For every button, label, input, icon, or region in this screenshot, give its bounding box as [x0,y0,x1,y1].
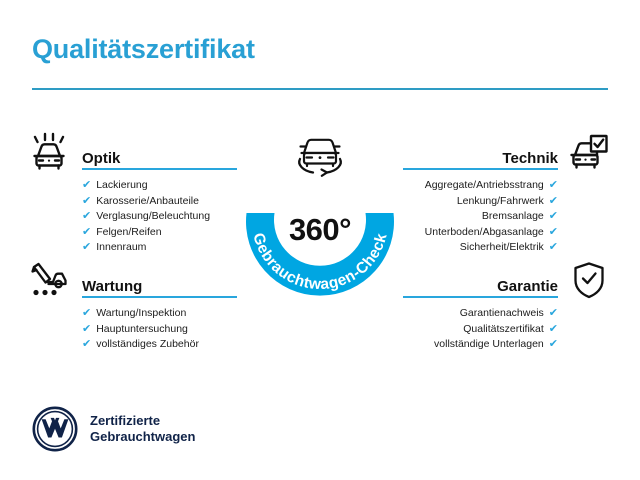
section-optik-header: Optik [82,140,237,170]
section-optik-underline [82,168,237,170]
check-icon: ✔ [549,227,558,238]
list-item-label: Lenkung/Fahrwerk [457,194,544,210]
check-icon: ✔ [549,196,558,207]
car-rotation-360-icon [288,126,352,180]
list-item-label: Verglasung/Beleuchtung [96,209,210,225]
list-item-label: Innenraum [96,240,146,256]
section-technik-header: Technik [403,140,558,170]
check-icon: ✔ [82,324,91,335]
list-item: ✔vollständiges Zubehör [82,337,237,353]
check-icon: ✔ [82,227,91,238]
footer-logo-line1: Zertifizierte [90,413,195,429]
list-item-label: Wartung/Inspektion [96,306,186,322]
section-wartung-header: Wartung [82,268,237,298]
check-icon: ✔ [549,242,558,253]
check-icon: ✔ [82,339,91,350]
list-item-label: vollständige Unterlagen [434,337,544,353]
check-icon: ✔ [82,211,91,222]
check-icon: ✔ [82,180,91,191]
list-item: Lenkung/Fahrwerk✔ [403,194,558,210]
section-optik-title: Optik [82,150,120,167]
section-technik-underline [403,168,558,170]
list-item: Aggregate/Antriebsstrang✔ [403,178,558,194]
car-service-pen-icon [26,259,72,301]
list-item: ✔Innenraum [82,240,237,256]
list-item: ✔Lackierung [82,178,237,194]
list-item: ✔Verglasung/Beleuchtung [82,209,237,225]
list-item: Qualitätszertifikat✔ [403,322,558,338]
check-icon: ✔ [549,211,558,222]
footer-logo: Zertifizierte Gebrauchtwagen [32,406,195,452]
check-icon: ✔ [82,308,91,319]
section-technik-list: Aggregate/Antriebsstrang✔ Lenkung/Fahrwe… [403,178,558,256]
list-item-label: Sicherheit/Elektrik [460,240,544,256]
list-item: ✔Felgen/Reifen [82,225,237,241]
shield-check-icon [566,259,612,301]
list-item-label: Unterboden/Abgasanlage [425,225,544,241]
list-item-label: Felgen/Reifen [96,225,161,241]
list-item: vollständige Unterlagen✔ [403,337,558,353]
list-item-label: Bremsanlage [482,209,544,225]
list-item-label: Qualitätszertifikat [463,322,544,338]
section-garantie-title: Garantie [497,278,558,295]
section-optik-list: ✔Lackierung ✔Karosserie/Anbauteile ✔Verg… [82,178,237,256]
check-icon: ✔ [82,242,91,253]
check-icon: ✔ [549,308,558,319]
check-icon: ✔ [549,339,558,350]
section-wartung-title: Wartung [82,278,142,295]
section-garantie-underline [403,296,558,298]
list-item-label: Garantienachweis [460,306,544,322]
check-icon: ✔ [549,180,558,191]
section-optik: Optik ✔Lackierung ✔Karosserie/Anbauteile… [82,140,237,256]
section-garantie: Garantie Garantienachweis✔ Qualitätszert… [403,268,558,353]
title-divider [32,88,608,90]
page-title: Qualitätszertifikat [32,34,255,65]
section-wartung-underline [82,296,237,298]
list-item-label: Hauptuntersuchung [96,322,188,338]
section-technik-title: Technik [502,150,558,167]
section-technik: Technik Aggregate/Antriebsstrang✔ Lenkun… [403,140,558,256]
list-item-label: Lackierung [96,178,147,194]
list-item: ✔Karosserie/Anbauteile [82,194,237,210]
list-item: Sicherheit/Elektrik✔ [403,240,558,256]
volkswagen-logo-icon [32,406,78,452]
list-item-label: Aggregate/Antriebsstrang [425,178,544,194]
list-item: Unterboden/Abgasanlage✔ [403,225,558,241]
list-item: Garantienachweis✔ [403,306,558,322]
footer-logo-line2: Gebrauchtwagen [90,429,195,445]
check-icon: ✔ [549,324,558,335]
car-checkbox-icon [564,131,610,173]
car-shine-icon [26,131,72,173]
list-item: ✔Hauptuntersuchung [82,322,237,338]
section-wartung: Wartung ✔Wartung/Inspektion ✔Hauptunters… [82,268,237,353]
list-item: Bremsanlage✔ [403,209,558,225]
section-garantie-list: Garantienachweis✔ Qualitätszertifikat✔ v… [403,306,558,353]
list-item: ✔Wartung/Inspektion [82,306,237,322]
section-wartung-list: ✔Wartung/Inspektion ✔Hauptuntersuchung ✔… [82,306,237,353]
check-icon: ✔ [82,196,91,207]
footer-logo-wordmark: Zertifizierte Gebrauchtwagen [90,413,195,445]
badge-360-label: 360° [232,212,408,248]
list-item-label: vollständiges Zubehör [96,337,199,353]
section-garantie-header: Garantie [403,268,558,298]
list-item-label: Karosserie/Anbauteile [96,194,199,210]
